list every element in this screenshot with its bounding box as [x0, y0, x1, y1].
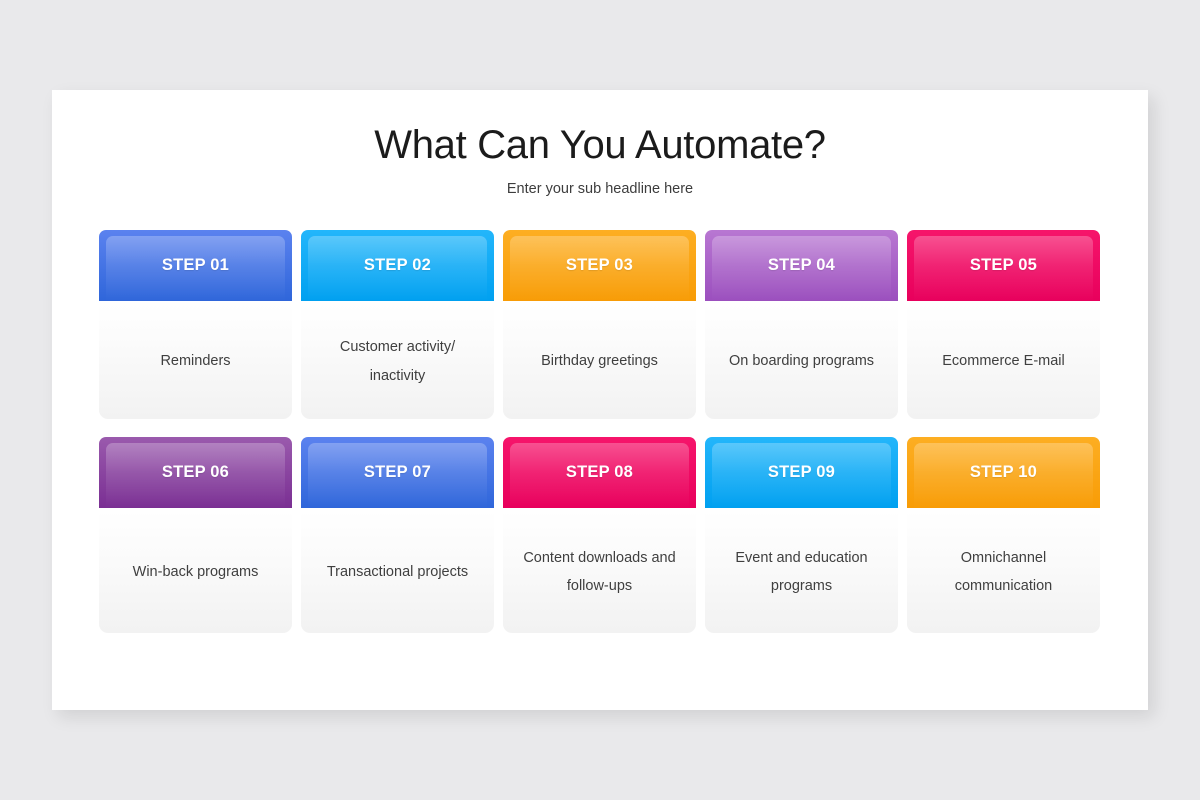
step-card-label: STEP 05	[970, 256, 1037, 275]
step-card[interactable]: STEP 05Ecommerce E-mail	[907, 230, 1100, 419]
step-card[interactable]: STEP 10Omnichannel communication	[907, 437, 1100, 633]
step-card-description: Ecommerce E-mail	[942, 347, 1064, 375]
step-card-header: STEP 01	[99, 230, 292, 301]
step-card-description: On boarding programs	[729, 347, 874, 375]
step-card-header: STEP 08	[503, 437, 696, 508]
step-card[interactable]: STEP 02Customer activity/ inactivity	[301, 230, 494, 419]
step-card-body: Birthday greetings	[503, 304, 696, 419]
step-card-label: STEP 03	[566, 256, 633, 275]
page-title: What Can You Automate?	[52, 90, 1148, 168]
step-card[interactable]: STEP 04On boarding programs	[705, 230, 898, 419]
step-card-label: STEP 06	[162, 463, 229, 482]
step-card-description: Event and education programs	[719, 544, 884, 601]
step-card-header: STEP 04	[705, 230, 898, 301]
step-card-description: Birthday greetings	[541, 347, 658, 375]
step-cards-grid: STEP 01RemindersSTEP 02Customer activity…	[99, 230, 1103, 651]
step-card-description: Reminders	[160, 347, 230, 375]
step-card-body: Event and education programs	[705, 511, 898, 633]
step-card-header: STEP 03	[503, 230, 696, 301]
step-card[interactable]: STEP 08Content downloads and follow-ups	[503, 437, 696, 633]
step-card[interactable]: STEP 03Birthday greetings	[503, 230, 696, 419]
step-card-body: Customer activity/ inactivity	[301, 304, 494, 419]
step-card-description: Omnichannel communication	[921, 544, 1086, 601]
step-card-body: Transactional projects	[301, 511, 494, 633]
step-card[interactable]: STEP 06Win-back programs	[99, 437, 292, 633]
step-card[interactable]: STEP 01Reminders	[99, 230, 292, 419]
step-card-header: STEP 02	[301, 230, 494, 301]
step-card-body: Reminders	[99, 304, 292, 419]
step-card-header: STEP 07	[301, 437, 494, 508]
step-card-header: STEP 05	[907, 230, 1100, 301]
step-cards-row-2: STEP 06Win-back programsSTEP 07Transacti…	[99, 437, 1103, 633]
step-card[interactable]: STEP 07Transactional projects	[301, 437, 494, 633]
step-card-description: Content downloads and follow-ups	[517, 544, 682, 601]
step-card-label: STEP 01	[162, 256, 229, 275]
step-card-body: Omnichannel communication	[907, 511, 1100, 633]
step-card-label: STEP 07	[364, 463, 431, 482]
step-card-label: STEP 02	[364, 256, 431, 275]
step-card-header: STEP 09	[705, 437, 898, 508]
step-card-body: Win-back programs	[99, 511, 292, 633]
step-card-header: STEP 10	[907, 437, 1100, 508]
step-card-label: STEP 10	[970, 463, 1037, 482]
step-card-header: STEP 06	[99, 437, 292, 508]
step-card-label: STEP 04	[768, 256, 835, 275]
page-subtitle: Enter your sub headline here	[52, 168, 1148, 197]
step-card[interactable]: STEP 09Event and education programs	[705, 437, 898, 633]
step-card-body: Content downloads and follow-ups	[503, 511, 696, 633]
step-card-label: STEP 08	[566, 463, 633, 482]
step-card-body: Ecommerce E-mail	[907, 304, 1100, 419]
step-cards-row-1: STEP 01RemindersSTEP 02Customer activity…	[99, 230, 1103, 419]
step-card-label: STEP 09	[768, 463, 835, 482]
step-card-description: Win-back programs	[133, 558, 259, 586]
step-card-description: Customer activity/ inactivity	[315, 333, 480, 390]
slide-canvas: What Can You Automate? Enter your sub he…	[52, 90, 1148, 710]
step-card-description: Transactional projects	[327, 558, 468, 586]
step-card-body: On boarding programs	[705, 304, 898, 419]
